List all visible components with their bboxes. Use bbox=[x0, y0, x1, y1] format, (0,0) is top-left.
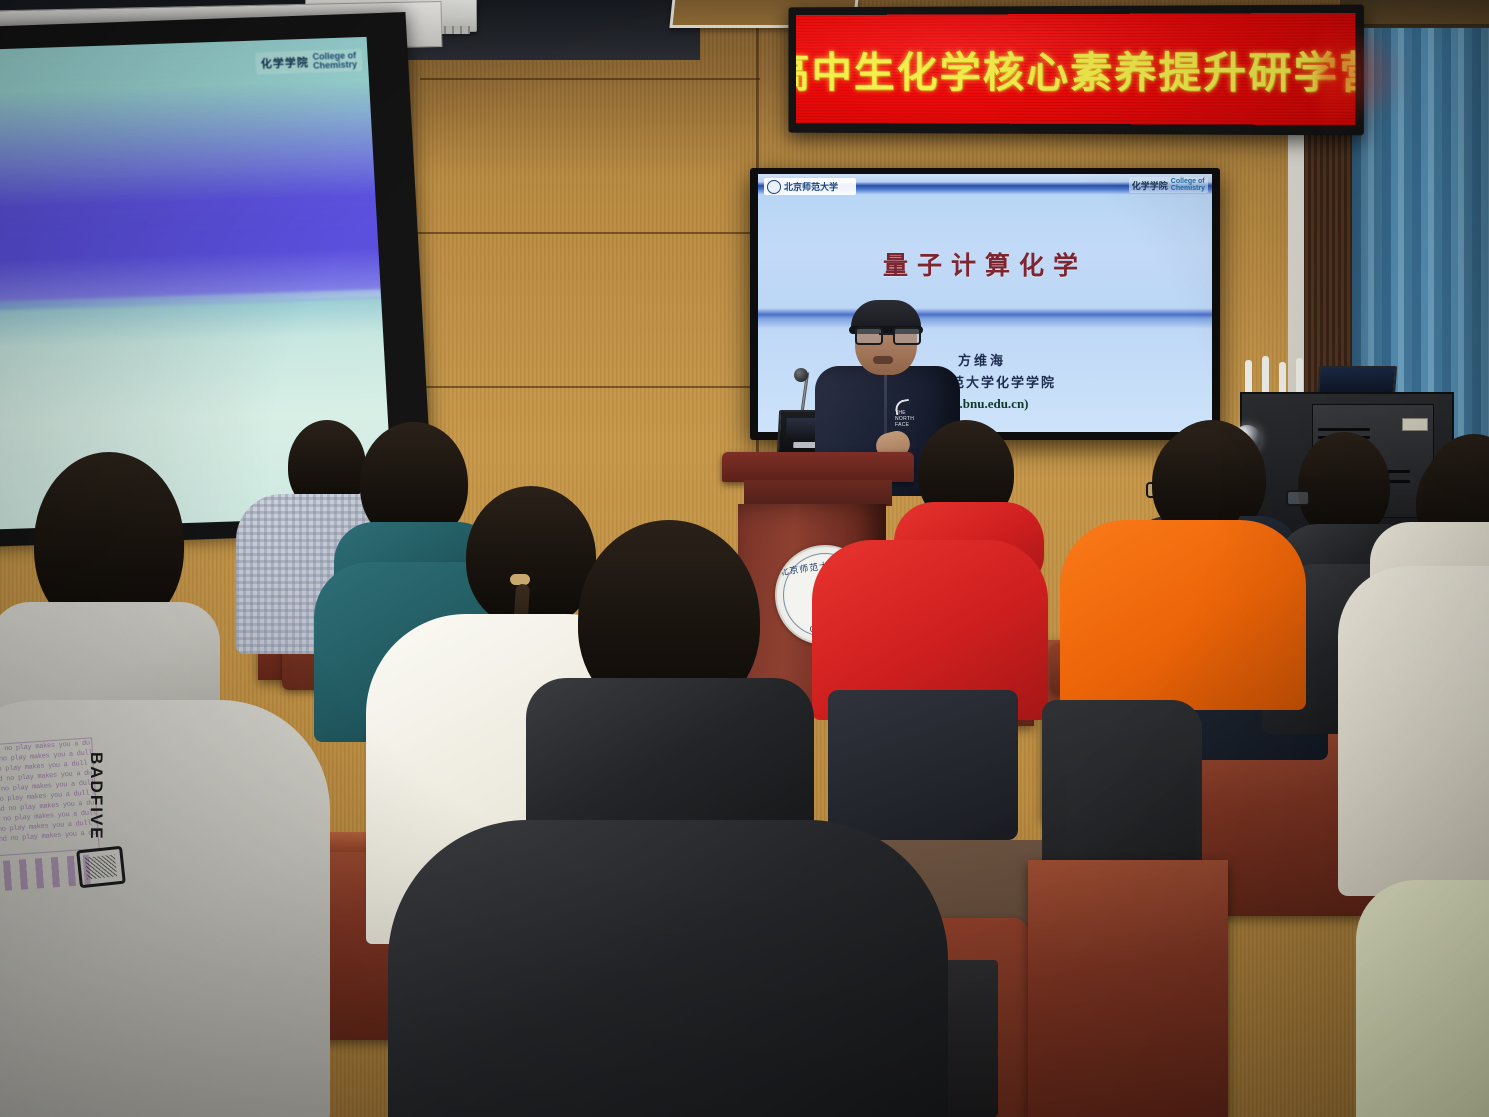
college-logo-en-text-slide: College of Chemistry bbox=[1171, 178, 1205, 192]
wall-seam-horizontal-3 bbox=[400, 386, 760, 388]
trousers bbox=[828, 690, 1018, 840]
slide-author: 方维海 bbox=[958, 350, 1006, 369]
bnu-logo: 北京师范大学 bbox=[764, 178, 856, 195]
slide-title: 量子计算化学 bbox=[758, 246, 1212, 282]
speaker-mouth bbox=[873, 356, 893, 364]
glasses-lens-left bbox=[855, 327, 883, 345]
body bbox=[1338, 566, 1489, 896]
north-face-logo: THE NORTH FACE bbox=[895, 400, 921, 414]
bnu-seal-icon bbox=[767, 180, 781, 194]
led-banner-glow bbox=[1320, 20, 1410, 130]
led-banner-text: 高中生化学核心素养提升研学营 bbox=[796, 38, 1355, 100]
speaker-glasses bbox=[855, 327, 917, 342]
north-face-logo-text: THE NORTH FACE bbox=[895, 410, 921, 428]
hoodie-print-tv-icon bbox=[76, 846, 126, 889]
body bbox=[1356, 880, 1489, 1117]
led-banner: 高中生化学核心素养提升研学营 bbox=[796, 13, 1355, 125]
college-logo-en-line2-slide: Chemistry bbox=[1171, 185, 1205, 192]
college-logo-en-line1-slide: College of bbox=[1171, 178, 1205, 185]
antenna-icon bbox=[1279, 362, 1286, 396]
chemistry-college-logo-projection: 化学学院 College of Chemistry bbox=[255, 49, 362, 74]
college-logo-cn-text-slide: 化学学院 bbox=[1132, 179, 1168, 192]
glasses bbox=[1286, 490, 1326, 503]
body bbox=[1060, 520, 1306, 710]
college-logo-en-line2: Chemistry bbox=[313, 59, 358, 70]
desk bbox=[1028, 860, 1228, 1117]
antenna-array bbox=[1243, 356, 1315, 396]
podium-top bbox=[722, 452, 914, 482]
college-logo-en-text: College of Chemistry bbox=[312, 51, 357, 70]
glasses-lens-left bbox=[1286, 490, 1310, 506]
rack-vent-slit bbox=[1318, 428, 1370, 431]
chemistry-college-logo-slide: 化学学院 College of Chemistry bbox=[1129, 177, 1208, 193]
rack-label-tag bbox=[1402, 418, 1428, 431]
antenna-icon bbox=[1245, 360, 1252, 396]
podium-neck bbox=[744, 480, 892, 506]
body bbox=[388, 820, 948, 1117]
antenna-icon bbox=[1296, 358, 1303, 396]
hoodie-brand-text: BADFIVE bbox=[86, 752, 106, 841]
body: All work and no play makes you a dull bo… bbox=[0, 700, 330, 1117]
college-logo-cn-text: 化学学院 bbox=[260, 54, 309, 72]
microphone-icon bbox=[794, 368, 808, 382]
head bbox=[466, 486, 596, 628]
glasses-lens-right bbox=[893, 327, 921, 345]
bnu-logo-text: 北京师范大学 bbox=[784, 180, 838, 193]
lecture-hall-photo: 化学学院 College of Chemistry 化学 学学院 u.edu.c… bbox=[0, 0, 1489, 1117]
glasses-bridge bbox=[879, 333, 893, 335]
antenna-icon bbox=[1262, 356, 1269, 396]
wall-seam-horizontal-1 bbox=[420, 78, 760, 80]
hoodie-print-text-block: All work and no play makes you a dull bo… bbox=[0, 737, 100, 858]
